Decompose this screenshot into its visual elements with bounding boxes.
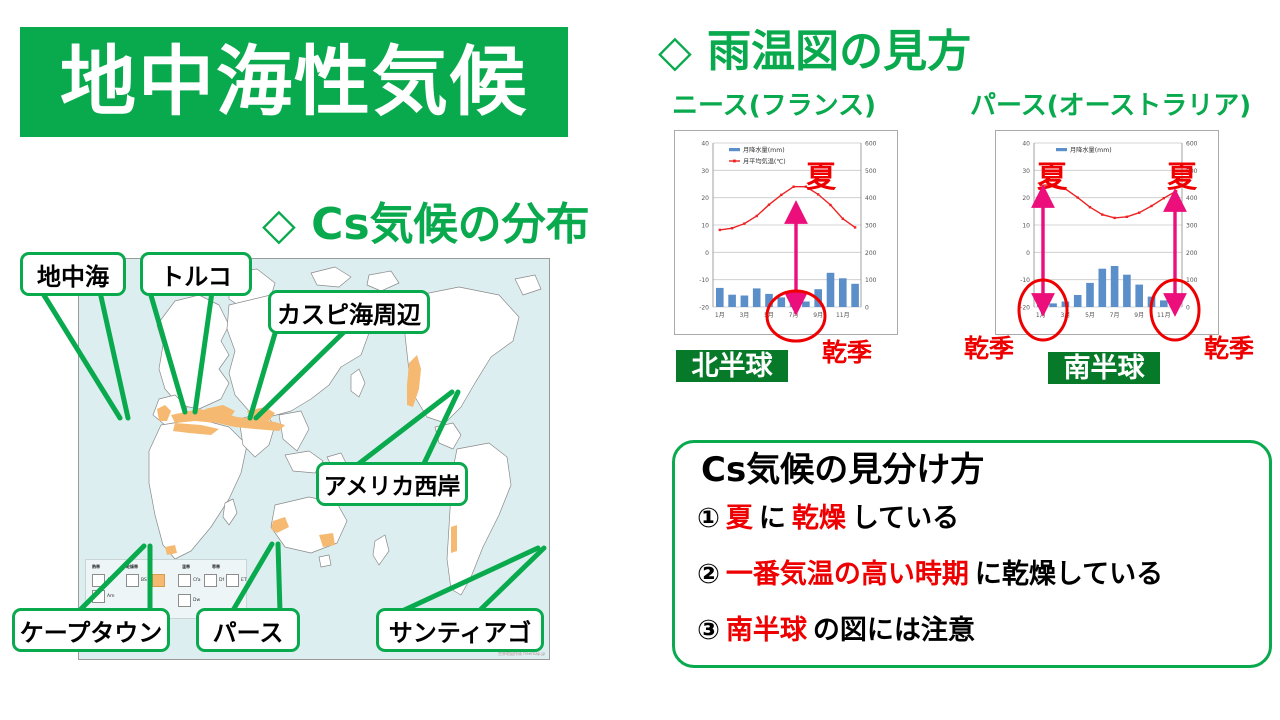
nice-chart-overlay bbox=[674, 130, 898, 345]
map-callout-label: 地中海 bbox=[37, 257, 109, 292]
nice-hemisphere-tag: 北半球 bbox=[676, 350, 788, 382]
tip-text-part: 一番気温の高い時期 bbox=[726, 561, 969, 588]
map-callout-us-west-coast[interactable]: アメリカ西岸 bbox=[316, 462, 468, 506]
tip-text-part: 乾燥 bbox=[792, 505, 846, 532]
callout-leader-lines bbox=[0, 0, 680, 700]
climograph-section-heading: ◇ 雨温図の見方 bbox=[658, 30, 971, 74]
perth-dry-season-label-left: 乾季 bbox=[964, 336, 1014, 361]
map-callout-label: ケープタウン bbox=[20, 613, 163, 648]
tip-text-part: の図には注意 bbox=[813, 617, 975, 644]
map-callout-caspian[interactable]: カスピ海周辺 bbox=[268, 290, 430, 334]
map-callout-turkey[interactable]: トルコ bbox=[140, 252, 252, 296]
perth-hemisphere-tag: 南半球 bbox=[1048, 352, 1160, 384]
map-callout-label: サンティアゴ bbox=[389, 613, 532, 648]
tip-text-part: 南半球 bbox=[726, 617, 807, 644]
tip-text-part: している bbox=[852, 505, 959, 532]
map-callout-label: パース bbox=[213, 613, 284, 648]
nice-chart-title: ニース(フランス) bbox=[672, 93, 876, 119]
map-callout-label: アメリカ西岸 bbox=[324, 467, 461, 501]
tip-number: ② bbox=[697, 561, 720, 588]
perth-chart-title: パース(オーストラリア) bbox=[970, 93, 1251, 119]
map-callout-cape-town[interactable]: ケープタウン bbox=[12, 608, 170, 652]
map-callout-perth[interactable]: パース bbox=[196, 608, 300, 652]
tip-number: ① bbox=[697, 505, 720, 532]
tip-number: ③ bbox=[697, 617, 720, 644]
cs-identification-tips-box: Cs気候の見分け方 ① 夏 に 乾燥 している ② 一番気温の高い時期 に乾燥し… bbox=[672, 440, 1272, 668]
tip-item-3: ③ 南半球 の図には注意 bbox=[697, 617, 975, 644]
perth-chart-overlay bbox=[995, 130, 1219, 345]
map-callout-mediterranean[interactable]: 地中海 bbox=[20, 252, 126, 296]
tip-text-part: 夏 bbox=[726, 505, 753, 532]
map-callout-label: カスピ海周辺 bbox=[277, 295, 421, 330]
nice-dry-season-label: 乾季 bbox=[822, 340, 872, 365]
tip-text-part: に bbox=[759, 505, 786, 532]
tip-text-part: に乾燥している bbox=[975, 561, 1163, 588]
map-callout-label: トルコ bbox=[160, 257, 232, 292]
perth-dry-season-label-right: 乾季 bbox=[1204, 336, 1254, 361]
tip-item-2: ② 一番気温の高い時期 に乾燥している bbox=[697, 561, 1163, 588]
tips-title: Cs気候の見分け方 bbox=[701, 453, 984, 487]
tip-item-1: ① 夏 に 乾燥 している bbox=[697, 505, 959, 532]
map-callout-santiago[interactable]: サンティアゴ bbox=[376, 608, 544, 652]
